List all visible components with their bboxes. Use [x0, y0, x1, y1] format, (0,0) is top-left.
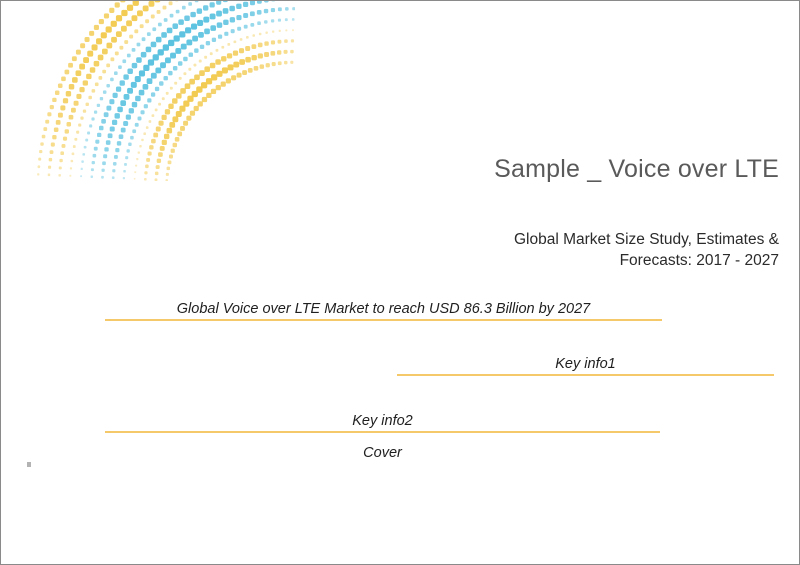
key-info-1-rule-row: Key info1 — [397, 354, 774, 376]
subtitle-line-1: Global Market Size Study, Estimates & — [301, 229, 779, 250]
cover-label: Cover — [105, 443, 660, 463]
key-info-2-rule-row: Key info2 — [105, 411, 660, 433]
headline-rule-row: Global Voice over LTE Market to reach US… — [105, 299, 662, 321]
page-title: Sample _ Voice over LTE — [301, 153, 779, 185]
main-title-text: Sample _ Voice over LTE — [301, 153, 779, 185]
key-info-1-text: Key info1 — [555, 356, 615, 372]
corner-mark — [27, 462, 31, 467]
headline-text: Global Voice over LTE Market to reach US… — [177, 301, 590, 317]
halftone-arc-graphic — [0, 0, 295, 181]
cover-page: Sample _ Voice over LTE Global Market Si… — [0, 0, 800, 565]
subtitle-line-2: Forecasts: 2017 - 2027 — [301, 250, 779, 271]
page-subtitle: Global Market Size Study, Estimates & Fo… — [301, 229, 779, 271]
key-info-2-text: Key info2 — [352, 413, 412, 429]
